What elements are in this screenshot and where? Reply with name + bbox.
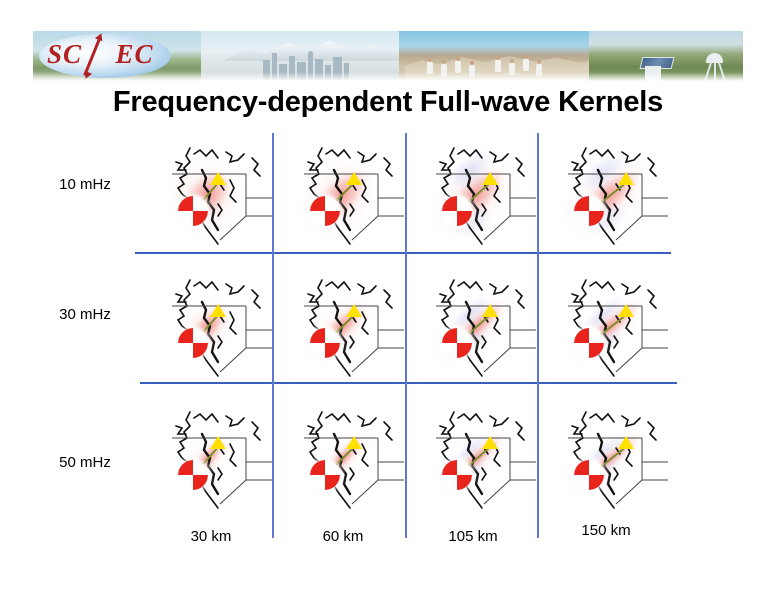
- kernel-map: [160, 404, 272, 512]
- focal-mechanism-beachball: [574, 328, 604, 358]
- kernel-map: [292, 404, 404, 512]
- kernel-cell-30mHz-60km: [292, 272, 404, 380]
- focal-mechanism-beachball: [178, 196, 208, 226]
- focal-mechanism-beachball: [574, 460, 604, 490]
- row-label-frequency-2: 50 mHz: [30, 454, 140, 471]
- kernel-map: [556, 140, 668, 248]
- kernel-cell-50mHz-30km: [160, 404, 272, 512]
- focal-mechanism-beachball: [178, 460, 208, 490]
- state-outline-map: [292, 140, 404, 248]
- kernel-map: [160, 272, 272, 380]
- focal-mechanism-beachball: [574, 196, 604, 226]
- logo-letters-right: EC: [116, 39, 154, 69]
- seismic-station-triangle: [482, 304, 498, 317]
- scec-header-banner: SC EC: [33, 31, 743, 82]
- field-researcher: [523, 58, 529, 71]
- kernel-cell-30mHz-150km: [556, 272, 668, 380]
- seismic-station-triangle: [346, 172, 362, 185]
- grid-vline-col1: [272, 133, 274, 538]
- state-outline-map: [424, 140, 536, 248]
- seismic-station-triangle: [618, 172, 634, 185]
- state-outline-map: [292, 272, 404, 380]
- focal-mechanism-beachball: [442, 196, 472, 226]
- state-outline-map: [424, 272, 536, 380]
- seismic-station-triangle: [482, 436, 498, 449]
- kernel-map: [292, 140, 404, 248]
- field-researcher: [495, 59, 501, 72]
- state-outline-map: [160, 404, 272, 512]
- seismic-station-triangle: [618, 436, 634, 449]
- state-outline-map: [292, 404, 404, 512]
- focal-mechanism-beachball: [310, 196, 340, 226]
- mountain-ridge: [223, 35, 413, 61]
- logo-text: SC EC: [47, 39, 163, 70]
- col-label-distance-2: 105 km: [418, 528, 528, 545]
- seismic-station-triangle: [346, 436, 362, 449]
- state-outline-map: [160, 272, 272, 380]
- kernel-cell-10mHz-105km: [424, 140, 536, 248]
- state-outline-map: [160, 140, 272, 248]
- kernel-map: [292, 272, 404, 380]
- kernel-cell-30mHz-105km: [424, 272, 536, 380]
- kernel-cell-10mHz-60km: [292, 140, 404, 248]
- kernel-map: [424, 272, 536, 380]
- seismic-station-triangle: [482, 172, 498, 185]
- seismic-station-triangle: [210, 172, 226, 185]
- focal-mechanism-beachball: [442, 460, 472, 490]
- col-label-distance-3: 150 km: [551, 522, 661, 539]
- slide-title: Frequency-dependent Full-wave Kernels: [0, 86, 776, 119]
- grid-vline-col2: [405, 133, 407, 538]
- seismic-station-triangle: [210, 436, 226, 449]
- logo-letters-left: SC: [47, 39, 82, 69]
- kernel-cell-50mHz-60km: [292, 404, 404, 512]
- focal-mechanism-beachball: [310, 460, 340, 490]
- grid-hline-row1: [135, 252, 671, 254]
- kernel-cell-50mHz-105km: [424, 404, 536, 512]
- col-label-distance-0: 30 km: [156, 528, 266, 545]
- focal-mechanism-beachball: [310, 328, 340, 358]
- grid-vline-col3: [537, 133, 539, 538]
- kernel-cell-50mHz-150km: [556, 404, 668, 512]
- kernel-map: [556, 404, 668, 512]
- col-label-distance-1: 60 km: [288, 528, 398, 545]
- kernel-cell-10mHz-150km: [556, 140, 668, 248]
- kernel-cell-30mHz-30km: [160, 272, 272, 380]
- logo-arrow-down-icon: [82, 71, 92, 80]
- focal-mechanism-beachball: [442, 328, 472, 358]
- seismic-station-triangle: [346, 304, 362, 317]
- kernel-cell-10mHz-30km: [160, 140, 272, 248]
- kernel-map: [424, 404, 536, 512]
- focal-mechanism-beachball: [178, 328, 208, 358]
- row-label-frequency-1: 30 mHz: [30, 306, 140, 323]
- kernel-map: [556, 272, 668, 380]
- kernel-map: [160, 140, 272, 248]
- seismic-station-triangle: [210, 304, 226, 317]
- scec-logo: SC EC: [33, 31, 173, 82]
- state-outline-map: [424, 404, 536, 512]
- grid-hline-row2: [140, 382, 677, 384]
- row-label-frequency-0: 10 mHz: [30, 176, 140, 193]
- seismic-station-triangle: [618, 304, 634, 317]
- kernel-map: [424, 140, 536, 248]
